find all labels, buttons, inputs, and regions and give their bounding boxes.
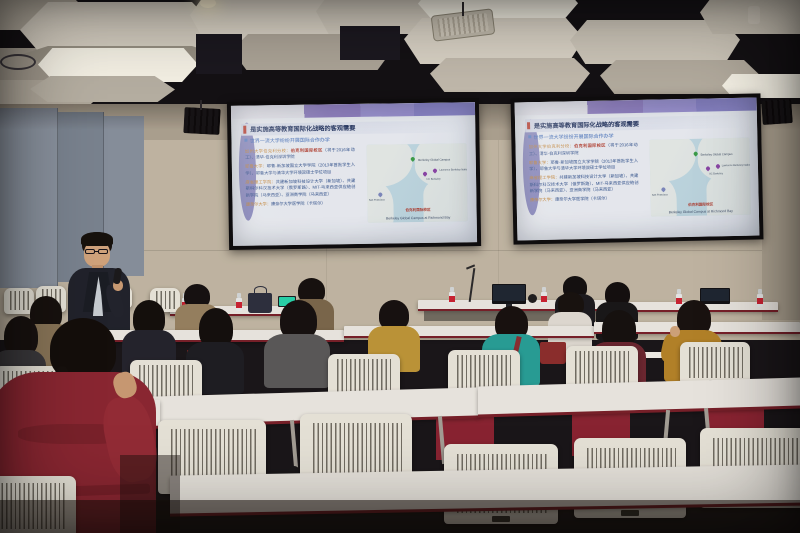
table-leg bbox=[290, 420, 298, 468]
slide-paragraph: 康奈尔大学：康奈尔大学医学院（卡塔尔） bbox=[246, 200, 356, 208]
title-accent-tick bbox=[527, 122, 530, 130]
wall-speaker-right bbox=[761, 99, 793, 125]
pin-label: Berkeley Global Campus bbox=[701, 152, 733, 157]
wall-panel-left bbox=[0, 108, 58, 288]
lawrence-berkeley-national-lab-pin bbox=[716, 164, 720, 169]
projection-screen-right[interactable]: 实施背景 战略举措 成效评估 是实施高等教育国际化战略的客观需要 世界一流大学纷… bbox=[510, 93, 763, 244]
uc-berkeley-pin bbox=[423, 172, 427, 177]
slide-right: 实施背景 战略举措 成效评估 是实施高等教育国际化战略的客观需要 世界一流大学纷… bbox=[515, 97, 760, 240]
projection-screen-left[interactable]: 实施背景 战略举措 成效评估 是实施高等教育国际化战略的客观需要 世界一流大学纷… bbox=[227, 98, 481, 250]
pin-label: Lawrence Berkeley National Lab bbox=[722, 163, 751, 167]
stacking-chair[interactable] bbox=[680, 342, 750, 384]
slide-body: 加州大学伯克利分校：伯克利国际校区（将于2016年动工）、清华-伯克利深圳学院 … bbox=[529, 142, 639, 207]
slide-paragraph: 加州大学伯克利分校：伯克利国际校区（将于2016年动工）、清华-伯克利深圳学院 bbox=[529, 142, 638, 157]
lawrence-berkeley-national-lab-pin bbox=[433, 169, 437, 174]
pendant-light bbox=[748, 6, 760, 24]
title-accent-tick bbox=[243, 126, 246, 134]
microphone-base bbox=[528, 294, 537, 303]
slide-map: Berkeley Global Campus Lawrence Berkeley… bbox=[367, 143, 468, 223]
uc-berkeley-pin bbox=[706, 166, 710, 171]
water-bottle bbox=[449, 287, 455, 305]
ceiling-hex-panel bbox=[430, 58, 590, 92]
slide-left: 实施背景 战略举措 成效评估 是实施高等教育国际化战略的客观需要 世界一流大学纷… bbox=[231, 102, 477, 246]
pin-label: San Francisco bbox=[652, 193, 668, 196]
pin-label: San Francisco bbox=[369, 199, 385, 202]
slide-paragraph: 耶鲁大学：耶鲁-新加坡国立大学学院（2013年首批学生入学）、耶鲁大学与清华大学… bbox=[529, 158, 638, 173]
san-francisco-pin bbox=[662, 187, 666, 192]
berkeley-global-campus-pin bbox=[694, 152, 698, 157]
slide-title: 是实施高等教育国际化战略的客观需要 bbox=[250, 123, 355, 134]
attendee-grey-sweater bbox=[264, 300, 330, 382]
ceiling-duct bbox=[0, 54, 36, 70]
presenter-glasses bbox=[85, 249, 95, 254]
slide-paragraph: 康奈尔大学：康奈尔大学医学院（卡塔尔） bbox=[530, 195, 639, 204]
handbag-handle bbox=[254, 286, 267, 294]
slide-paragraph: 麻省理工学院：共建新加坡科技设计大学（新加坡）、共建斯科尔科汉技术大学（俄罗斯路… bbox=[529, 173, 638, 195]
water-bottle bbox=[757, 289, 763, 307]
pin-label: UC Berkeley bbox=[709, 172, 723, 175]
slide-paragraph: 加州大学伯克利分校：伯克利国际校区（将于2016年动工）、清华-伯克利深圳学院 bbox=[245, 147, 355, 162]
slide-title: 是实施高等教育国际化战略的客观需要 bbox=[534, 119, 639, 130]
lecture-hall-photo: 实施背景 战略举措 成效评估 是实施高等教育国际化战略的客观需要 世界一流大学纷… bbox=[0, 0, 800, 533]
bullet-icon bbox=[529, 135, 532, 138]
slide-paragraph: 麻省理工学院：共建新加坡科技设计大学（新加坡）、共建斯科尔科汉技术大学（俄罗斯路… bbox=[245, 178, 355, 199]
pin-label: UC Berkeley bbox=[427, 178, 441, 181]
slide-topbar bbox=[231, 102, 475, 119]
pin-label: Berkeley Global Campus bbox=[418, 157, 450, 162]
red-shoulder-bag bbox=[540, 342, 566, 364]
san-francisco-pin bbox=[379, 193, 383, 198]
water-bottle bbox=[541, 287, 547, 305]
slide-subtitle: 世界一流大学纷纷开展国际合作办学 bbox=[245, 137, 330, 145]
berkeley-global-campus-pin bbox=[411, 157, 415, 162]
pin-label: Lawrence Berkeley National Lab bbox=[439, 169, 468, 173]
wall-speaker-left bbox=[183, 107, 220, 135]
wall-right bbox=[762, 120, 800, 320]
slide-paragraph: 耶鲁大学：耶鲁-新加坡国立大学学院（2013年首批学生入学）、耶鲁大学与清华大学… bbox=[245, 162, 355, 177]
slide-map: Berkeley Global Campus Lawrence Berkeley… bbox=[650, 138, 751, 217]
slide-body: 加州大学伯克利分校：伯克利国际校区（将于2016年动工）、清华-伯克利深圳学院 … bbox=[245, 147, 356, 211]
presenter-monitor bbox=[492, 284, 526, 304]
slide-topbar bbox=[515, 97, 757, 115]
bullet-icon bbox=[245, 139, 248, 142]
